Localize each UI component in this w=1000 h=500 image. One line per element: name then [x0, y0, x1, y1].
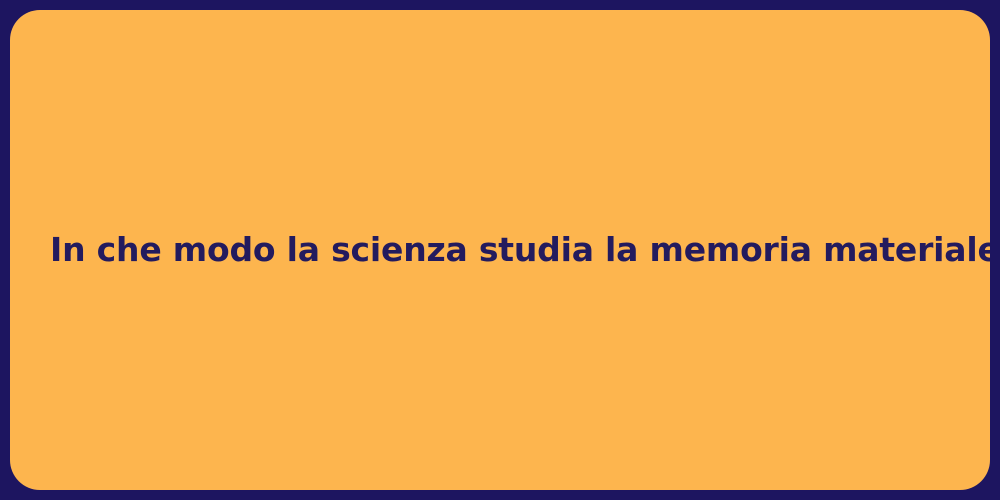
page-frame: In che modo la scienza studia la memoria…	[0, 0, 1000, 500]
question-heading: In che modo la scienza studia la memoria…	[10, 229, 990, 270]
question-card: In che modo la scienza studia la memoria…	[10, 10, 990, 490]
